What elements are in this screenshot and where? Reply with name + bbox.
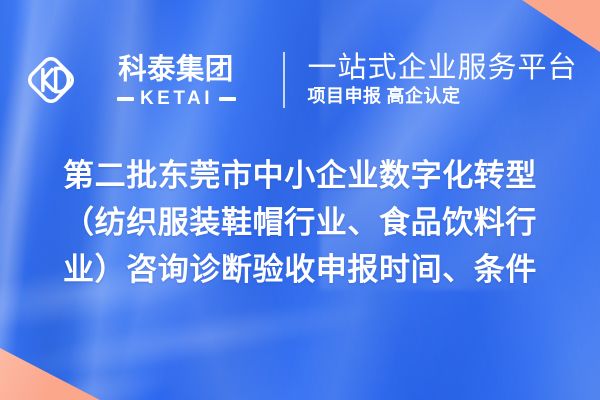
banner-header: 科泰集团 KETAI 一站式企业服务平台 项目申报 高企认定 xyxy=(0,40,600,120)
tagline-main: 一站式企业服务平台 xyxy=(307,53,577,84)
promotional-banner: 科泰集团 KETAI 一站式企业服务平台 项目申报 高企认定 第二批东莞市中小企… xyxy=(0,0,600,400)
dash-left-icon xyxy=(117,97,134,101)
brand-name-cn-text: 科泰集团 xyxy=(119,54,235,86)
header-divider xyxy=(283,52,285,108)
tagline-sub: 项目申报 高企认定 xyxy=(307,87,460,107)
tagline-block: 一站式企业服务平台 项目申报 高企认定 xyxy=(307,53,577,108)
banner-title: 第二批东莞市中小企业数字化转型 （纺织服装鞋帽行业、食品饮料行 业）咨询诊断验收… xyxy=(22,152,578,293)
brand-name-en-row: KETAI xyxy=(117,89,236,108)
title-line-1: 第二批东莞市中小企业数字化转型 xyxy=(22,152,578,199)
brand-text-stack: 科泰集团 KETAI xyxy=(91,52,261,108)
brand-lockup: 科泰集团 KETAI xyxy=(22,51,261,109)
brand-name-en: KETAI xyxy=(140,89,213,108)
ketai-diamond-kd-logo-icon xyxy=(22,51,80,109)
title-line-3: 业）咨询诊断验收申报时间、条件 xyxy=(22,246,578,293)
title-line-2: （纺织服装鞋帽行业、食品饮料行 xyxy=(22,199,578,246)
brand-name-cn-logotype: 科泰集团 xyxy=(91,52,261,86)
dash-right-icon xyxy=(219,97,236,101)
